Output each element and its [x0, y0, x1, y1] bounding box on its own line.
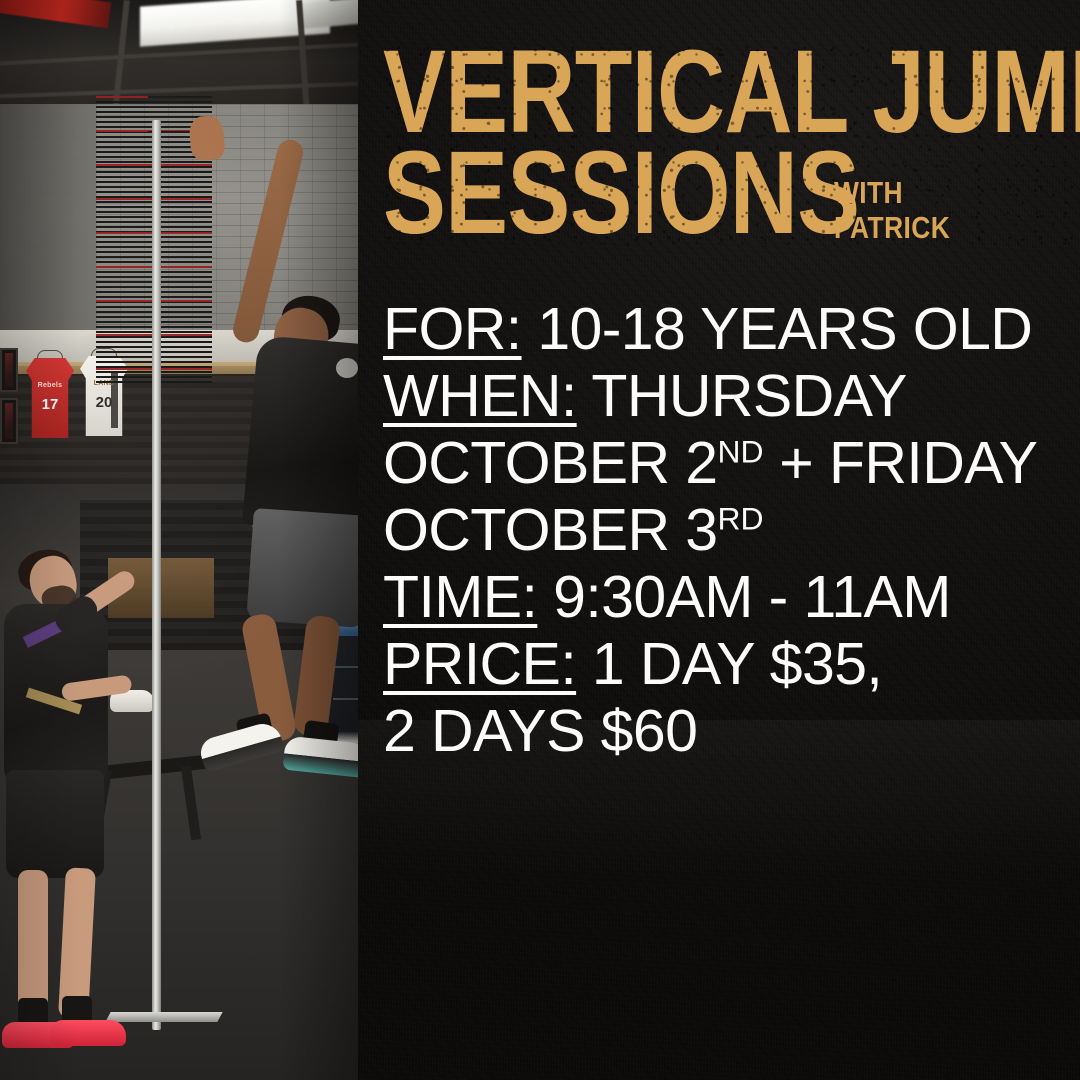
vertec-pole [152, 120, 161, 1030]
headline-line-2: SESSIONS [383, 143, 859, 244]
content-panel: VERTICAL JUMP SESSIONS WITH PATRICK FOR:… [358, 0, 1080, 1080]
detail-line-price: PRICE: 1 DAY $35, [383, 631, 1080, 698]
detail-line-date-2: OCTOBER 3RD [383, 497, 1080, 564]
jersey-number: 20 [80, 394, 128, 411]
detail-line-price-2: 2 DAYS $60 [383, 698, 1080, 765]
when-value: THURSDAY [577, 363, 907, 429]
for-label: FOR: [383, 296, 522, 362]
athlete-shirt-logo [336, 358, 358, 378]
date-1-mid: + FRIDAY [764, 430, 1038, 496]
athlete-shorts [246, 508, 358, 628]
detail-line-time: TIME: 9:30AM - 11AM [383, 564, 1080, 631]
headline-block: VERTICAL JUMP SESSIONS [383, 42, 1073, 245]
jersey-number: 17 [26, 396, 74, 413]
athlete-hand [189, 115, 226, 161]
framed-picture [0, 398, 18, 444]
date-2-ordinal: RD [717, 500, 763, 536]
date-1-ordinal: ND [717, 433, 763, 469]
with-label: WITH [834, 176, 950, 211]
headline-row-2: SESSIONS [383, 143, 1073, 244]
date-2-prefix: OCTOBER 3 [383, 497, 717, 563]
gym-photo: Rebels 17 LAND 20 [0, 0, 358, 1080]
detail-line-date-1: OCTOBER 2ND + FRIDAY [383, 430, 1080, 497]
brick-wall-shadow [0, 104, 96, 336]
detail-line-for: FOR: 10-18 YEARS OLD [383, 296, 1080, 363]
athlete-shoe-right [282, 736, 358, 779]
coach-shoe-right [50, 1020, 126, 1046]
time-label: TIME: [383, 564, 537, 630]
athlete-leg-right [293, 614, 341, 737]
framed-picture [0, 348, 18, 392]
for-value: 10-18 YEARS OLD [522, 296, 1033, 362]
poster: Rebels 17 LAND 20 [0, 0, 1080, 1080]
price-value: 1 DAY $35, [576, 631, 882, 697]
jersey-team-mark: Rebels [38, 382, 63, 389]
jersey-red: Rebels 17 [26, 358, 74, 438]
skylight-secondary [300, 0, 358, 29]
coach-shorts [6, 770, 104, 878]
time-value: 9:30AM - 11AM [537, 564, 951, 630]
athlete-figure [196, 284, 358, 844]
when-label: WHEN: [383, 363, 577, 429]
price-label: PRICE: [383, 631, 576, 697]
date-1-prefix: OCTOBER 2 [383, 430, 717, 496]
detail-line-when: WHEN: THURSDAY [383, 363, 1080, 430]
details-block: FOR: 10-18 YEARS OLD WHEN: THURSDAY OCTO… [383, 296, 1080, 765]
coach-figure [0, 556, 136, 1056]
coach-name: PATRICK [834, 211, 950, 246]
with-coach-block: WITH PATRICK [834, 176, 950, 245]
